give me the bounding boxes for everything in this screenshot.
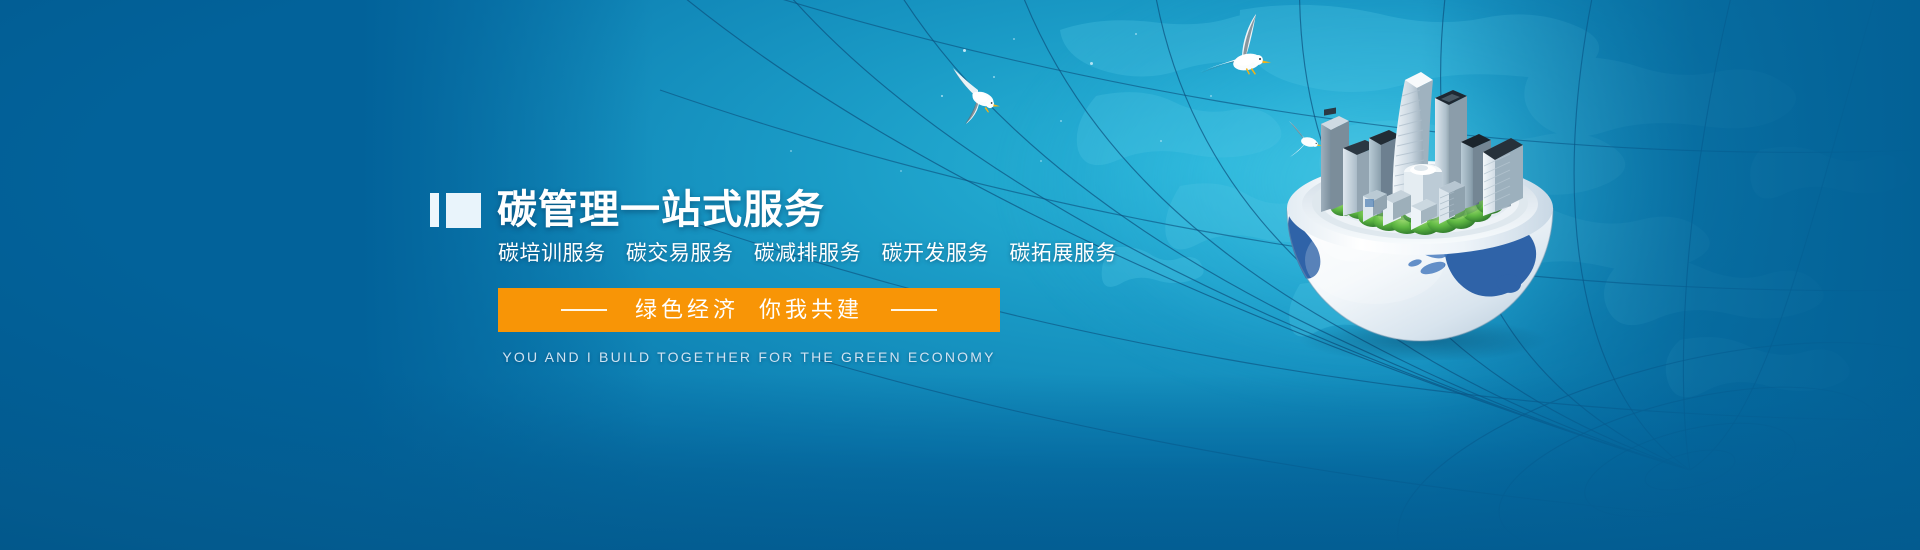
bar-square-mark-icon	[430, 193, 481, 228]
slogan-secondary: 你我共建	[759, 297, 863, 322]
service-list: 碳培训服务 碳交易服务 碳减排服务 碳开发服务 碳拓展服务	[498, 243, 1117, 264]
headline-row: 碳管理一站式服务	[430, 190, 825, 230]
service-item-1: 碳交易服务	[626, 242, 734, 265]
page-title: 碳管理一站式服务	[497, 190, 825, 230]
slogan-rule-right	[891, 309, 937, 311]
service-item-3: 碳开发服务	[882, 242, 990, 265]
slogan-rule-left	[561, 309, 607, 311]
banner-content: 碳管理一站式服务 碳培训服务 碳交易服务 碳减排服务 碳开发服务 碳拓展服务 绿…	[0, 0, 1920, 550]
service-item-0: 碳培训服务	[498, 242, 606, 265]
service-item-2: 碳减排服务	[754, 242, 862, 265]
english-tagline: YOU AND I BUILD TOGETHER FOR THE GREEN E…	[498, 350, 1000, 364]
service-item-4: 碳拓展服务	[1009, 242, 1117, 265]
slogan-text: 绿色经济你我共建	[635, 299, 863, 321]
slogan-primary: 绿色经济	[635, 297, 739, 322]
mark-square	[446, 193, 481, 228]
hero-banner: 碳管理一站式服务 碳培训服务 碳交易服务 碳减排服务 碳开发服务 碳拓展服务 绿…	[0, 0, 1920, 550]
mark-bar	[430, 193, 439, 227]
slogan-bar: 绿色经济你我共建	[498, 288, 1000, 332]
